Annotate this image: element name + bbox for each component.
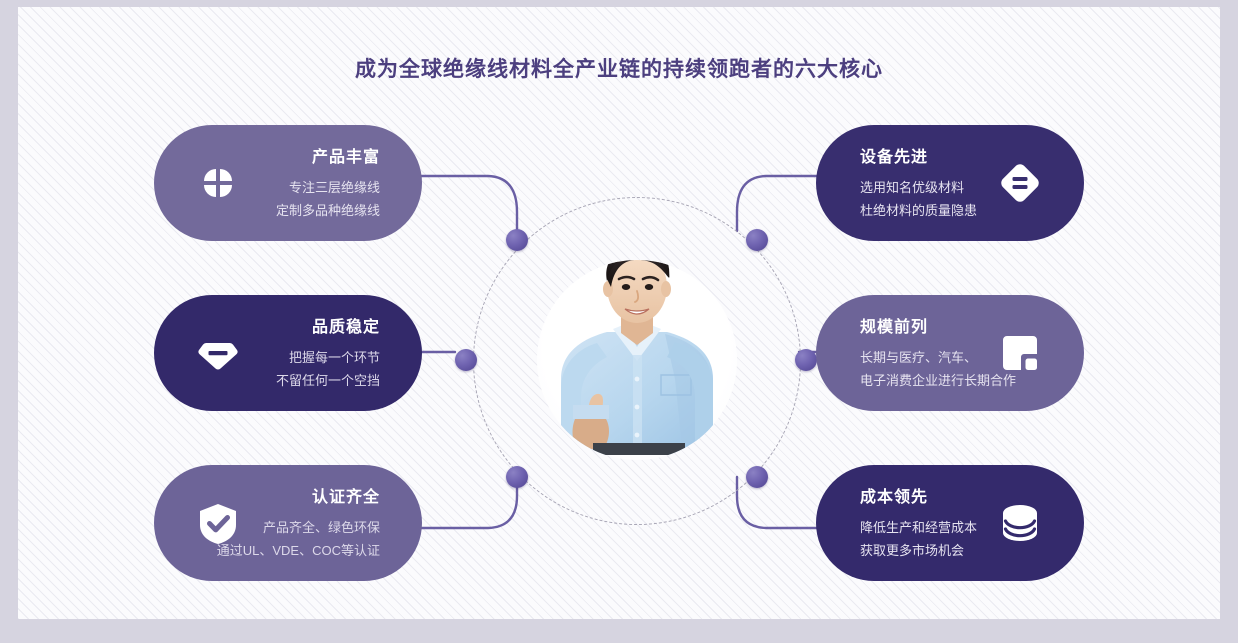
ring-dot-6 [746,466,768,488]
page-title: 成为全球绝缘线材料全产业链的持续领跑者的六大核心 [18,53,1220,83]
card-text: 成本领先 降低生产和经营成本 获取更多市场机会 [860,487,977,562]
card-text: 规模前列 长期与医疗、汽车、 电子消费企业进行长期合作 [860,317,1016,392]
card-title: 成本领先 [860,487,977,509]
card-line-2: 不留任何一个空挡 [276,369,380,392]
card-line-1: 降低生产和经营成本 [860,516,977,539]
card-product-rich[interactable]: 产品丰富 专注三层绝缘线 定制多品种绝缘线 [154,125,422,241]
card-line-2: 定制多品种绝缘线 [276,199,380,222]
card-line-2: 电子消费企业进行长期合作 [860,369,1016,392]
ring-dot-4 [746,229,768,251]
four-petal-flower-icon [192,157,244,209]
card-line-1: 把握每一个环节 [276,346,380,369]
card-line-2: 获取更多市场机会 [860,539,977,562]
card-line-2: 通过UL、VDE、COC等认证 [217,539,380,562]
card-equipment-advanced[interactable]: 设备先进 选用知名优级材料 杜绝材料的质量隐患 [816,125,1084,241]
diamond-bars-icon [994,157,1046,209]
card-text: 认证齐全 产品齐全、绿色环保 通过UL、VDE、COC等认证 [217,487,380,562]
card-certification-complete[interactable]: 认证齐全 产品齐全、绿色环保 通过UL、VDE、COC等认证 [154,465,422,581]
card-line-1: 产品齐全、绿色环保 [217,516,380,539]
card-title: 设备先进 [860,147,977,169]
card-cost-leading[interactable]: 成本领先 降低生产和经营成本 获取更多市场机会 [816,465,1084,581]
card-title: 认证齐全 [217,487,380,509]
card-line-1: 选用知名优级材料 [860,176,977,199]
card-scale-leading[interactable]: 规模前列 长期与医疗、汽车、 电子消费企业进行长期合作 [816,295,1084,411]
card-text: 设备先进 选用知名优级材料 杜绝材料的质量隐患 [860,147,977,222]
card-line-2: 杜绝材料的质量隐患 [860,199,977,222]
card-line-1: 长期与医疗、汽车、 [860,346,1016,369]
ring-dot-2 [455,349,477,371]
center-photo [515,229,759,455]
card-line-1: 专注三层绝缘线 [276,176,380,199]
ring-dot-5 [795,349,817,371]
card-title: 品质稳定 [276,317,380,339]
gem-minus-icon [192,327,244,379]
card-title: 产品丰富 [276,147,380,169]
card-text: 品质稳定 把握每一个环节 不留任何一个空挡 [276,317,380,392]
card-quality-stable[interactable]: 品质稳定 把握每一个环节 不留任何一个空挡 [154,295,422,411]
card-title: 规模前列 [860,317,1016,339]
ring-dot-1 [506,229,528,251]
ring-dot-3 [506,466,528,488]
card-text: 产品丰富 专注三层绝缘线 定制多品种绝缘线 [276,147,380,222]
database-stack-icon [994,497,1046,549]
infographic-canvas: 成为全球绝缘线材料全产业链的持续领跑者的六大核心 [18,7,1220,619]
